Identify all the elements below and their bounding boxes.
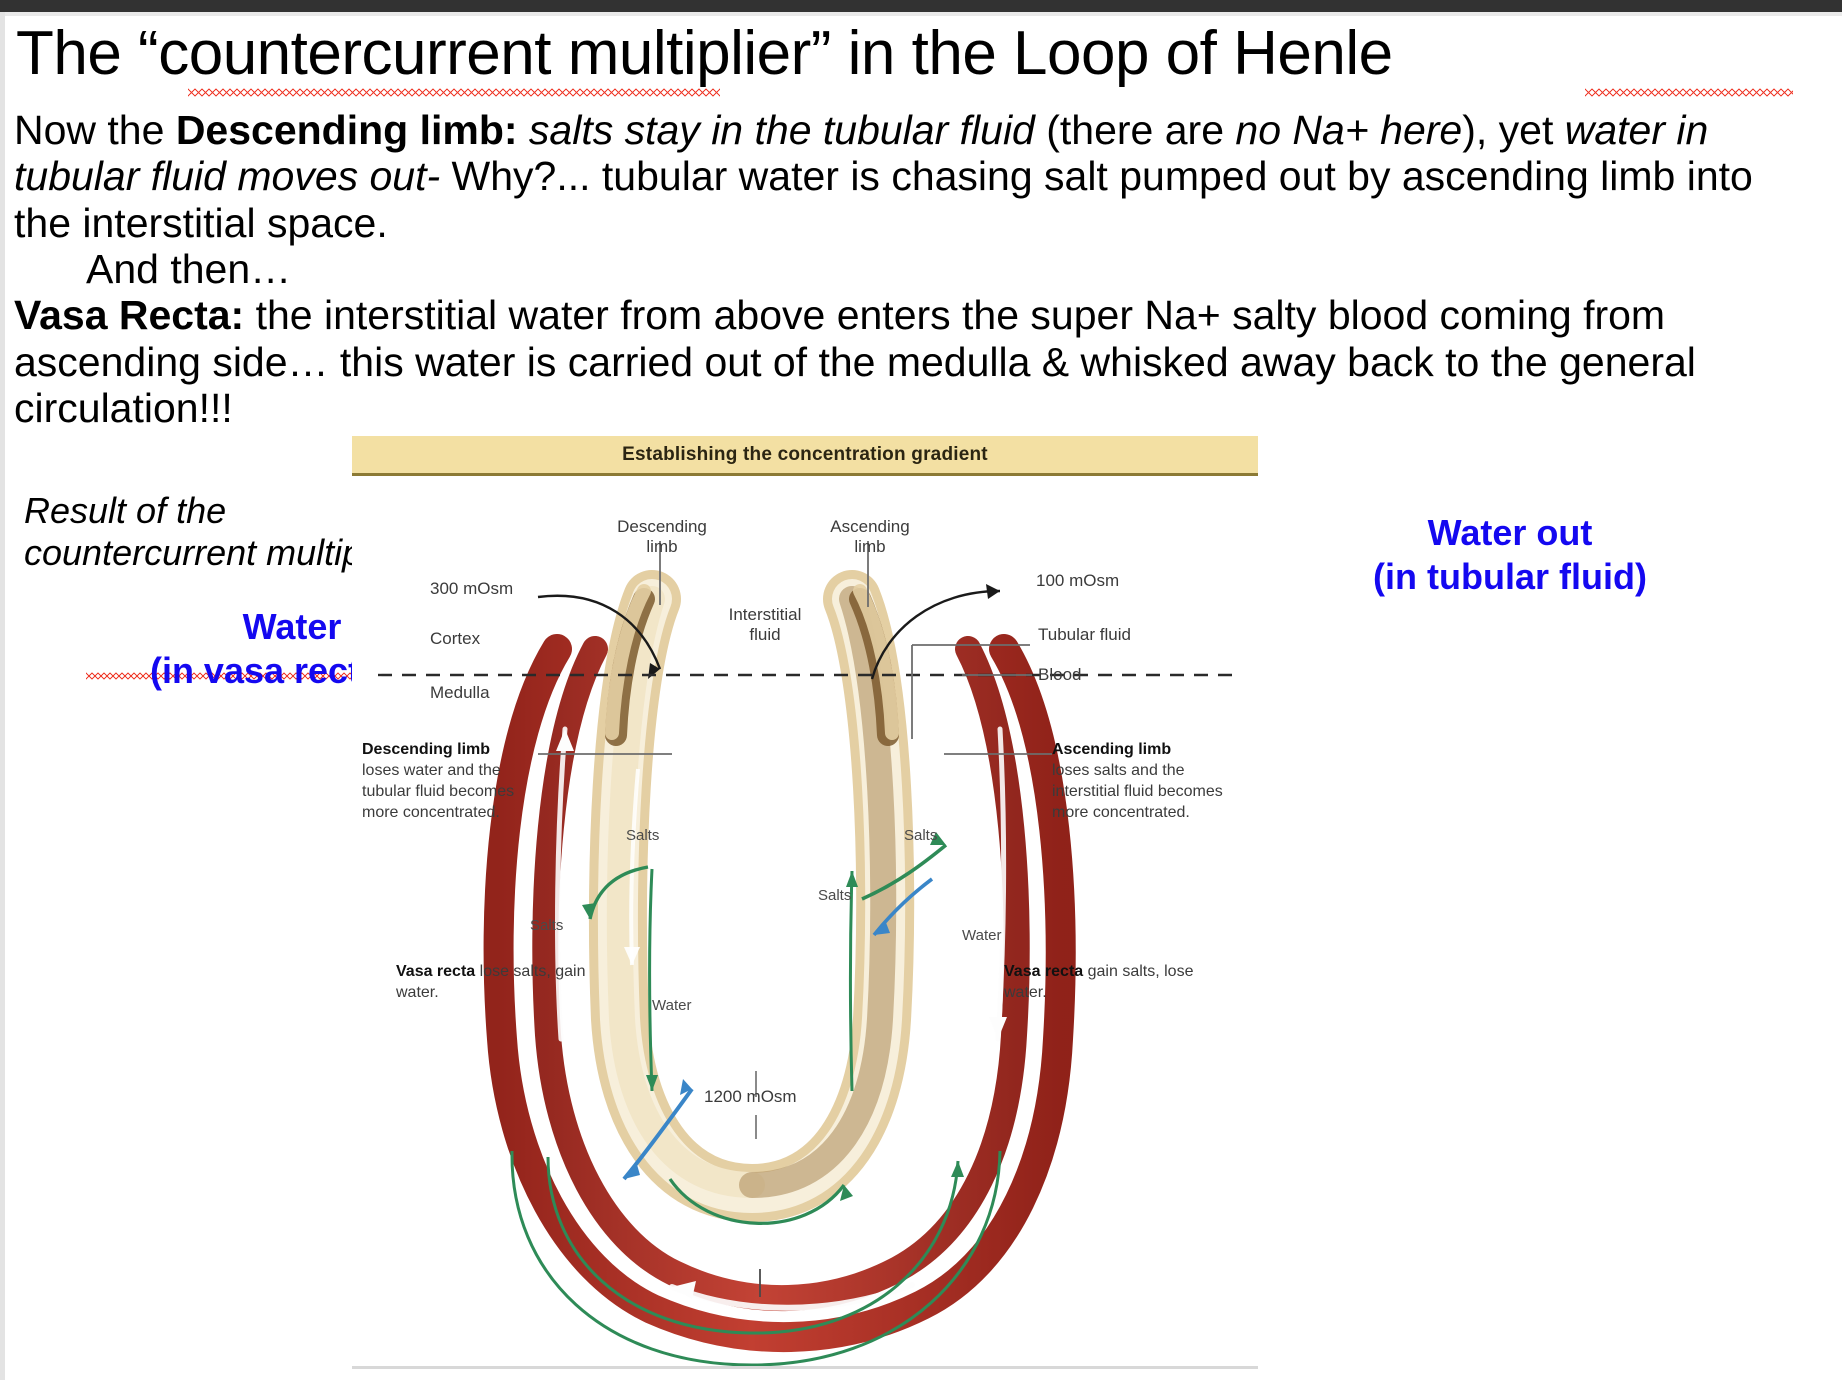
label-blood: Blood xyxy=(1038,665,1081,685)
block-descending-limb: Descending limb loses water and the tubu… xyxy=(362,739,552,823)
figure-illustration: Descending limb Ascending limb 300 mOsm … xyxy=(352,479,1258,1366)
label-water-right: Water xyxy=(962,927,1001,944)
text-yet: ), yet xyxy=(1462,107,1565,153)
label-salts-middle: Salts xyxy=(818,887,851,904)
label-100-mosm: 100 mOsm xyxy=(1036,571,1119,591)
figure-banner: Establishing the concentration gradient xyxy=(352,436,1258,476)
block-ascending-limb-heading: Ascending limb xyxy=(1052,741,1171,758)
label-interstitial-fluid-line1: Interstitial xyxy=(700,605,830,625)
text-there-are: (there are xyxy=(1035,107,1236,153)
paragraph-vasa-recta: Vasa Recta: the interstitial water from … xyxy=(14,292,1814,431)
figure-bottom-divider xyxy=(352,1366,1258,1369)
label-ascending-limb-top-line1: Ascending xyxy=(810,517,930,537)
text-vasa-recta-rest: the interstitial water from above enters… xyxy=(14,292,1696,431)
text-salts-stay: salts stay in the tubular fluid xyxy=(518,107,1035,153)
block-vasa-recta-right-heading: Vasa recta xyxy=(1004,963,1083,980)
window-top-bar xyxy=(0,0,1842,12)
kidney-loop-of-henle-figure: Establishing the concentration gradient xyxy=(352,436,1258,1366)
slide-body-text: Now the Descending limb: salts stay in t… xyxy=(14,107,1814,431)
window-top-edge xyxy=(0,12,1842,16)
label-medulla: Medulla xyxy=(430,683,490,703)
paragraph-descending-limb: Now the Descending limb: salts stay in t… xyxy=(14,107,1814,246)
annotation-water-out-tubular-line1: Water out xyxy=(1200,512,1820,554)
block-descending-limb-text: loses water and the tubular fluid become… xyxy=(362,762,514,821)
block-vasa-recta-right: Vasa recta gain salts, lose water. xyxy=(1004,961,1204,1003)
annotation-water-out-tubular-line2: (in tubular fluid) xyxy=(1200,556,1820,598)
label-salts-ascending-top: Salts xyxy=(904,827,937,844)
label-salts-descending-top: Salts xyxy=(626,827,659,844)
label-ascending-limb-top-line2: limb xyxy=(810,537,930,557)
label-descending-limb-top-line1: Descending xyxy=(602,517,722,537)
block-ascending-limb: Ascending limb loses salts and the inter… xyxy=(1052,739,1252,823)
spellcheck-underline-henle xyxy=(1585,88,1793,97)
block-ascending-limb-text: loses salts and the interstitial fluid b… xyxy=(1052,762,1223,821)
label-1200-mosm: 1200 mOsm xyxy=(704,1087,797,1107)
text-descending-limb-bold: Descending limb: xyxy=(176,107,518,153)
paragraph-and-then: And then… xyxy=(14,246,1814,292)
label-interstitial-fluid-line2: fluid xyxy=(700,625,830,645)
label-salts-left: Salts xyxy=(530,917,563,934)
window-left-edge xyxy=(0,12,5,1380)
label-water-left: Water xyxy=(652,997,691,1014)
text-now-the: Now the xyxy=(14,107,176,153)
slide-title: The “countercurrent multiplier” in the L… xyxy=(16,22,1826,85)
label-cortex: Cortex xyxy=(430,629,480,649)
text-no-na-pumps-here: no Na+ here xyxy=(1235,107,1462,153)
block-descending-limb-heading: Descending limb xyxy=(362,741,490,758)
figure-banner-title: Establishing the concentration gradient xyxy=(622,444,988,466)
label-descending-limb-top-line2: limb xyxy=(602,537,722,557)
spellcheck-underline-countercurrent-multiplier xyxy=(188,88,720,97)
label-300-mosm: 300 mOsm xyxy=(430,579,513,599)
block-vasa-recta-left-heading: Vasa recta xyxy=(396,963,475,980)
label-tubular-fluid: Tubular fluid xyxy=(1038,625,1131,645)
block-vasa-recta-left: Vasa recta lose salts, gain water. xyxy=(396,961,586,1003)
annotation-result-line1: Result of the xyxy=(24,490,226,532)
text-vasa-recta-bold: Vasa Recta: xyxy=(14,292,244,338)
slide-canvas: The “countercurrent multiplier” in the L… xyxy=(0,0,1842,1380)
